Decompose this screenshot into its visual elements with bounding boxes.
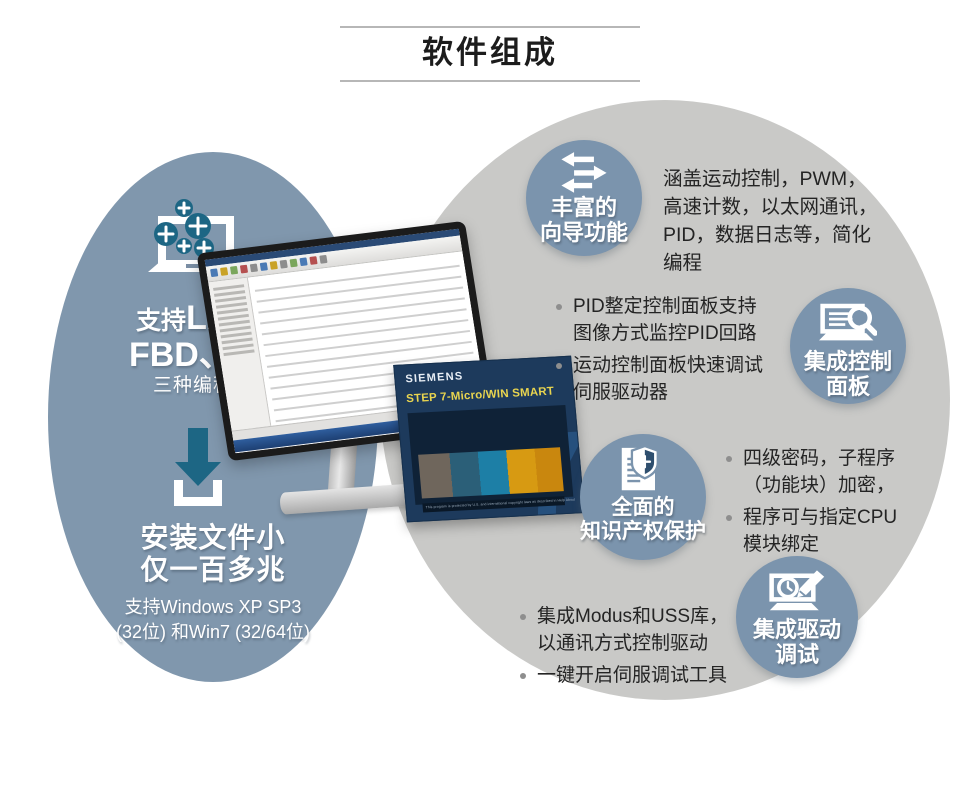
panel-b2-l1: 运动控制面板快速调试 (573, 355, 763, 376)
ip-b1-l1: 四级密码，子程序 (743, 448, 895, 469)
feature-text-ip-protection: 四级密码，子程序 （功能块）加密， 程序可与指定CPU 模块绑定 (726, 446, 897, 564)
list-item: 运动控制面板快速调试 伺服驱动器 (556, 353, 763, 407)
wizard-line-1: 涵盖运动控制，PWM， (663, 166, 878, 194)
page-title: 软件组成 (340, 28, 640, 80)
panel-b1-l1: PID整定控制面板支持 (573, 296, 757, 317)
list-item: 四级密码，子程序 （功能块）加密， (726, 446, 897, 500)
drive-b1-l1: 集成Modus和USS库， (537, 606, 728, 627)
splash-photo-strip (418, 447, 564, 498)
title-rule-bottom (340, 80, 640, 82)
badge-drive-label-2: 调试 (753, 643, 841, 668)
drive-bullets: 集成Modus和USS库， 以通讯方式控制驱动 一键开启伺服调试工具 (520, 604, 728, 690)
control-panel-bullets: PID整定控制面板支持 图像方式监控PID回路 运动控制面板快速调试 伺服驱动器 (556, 294, 763, 407)
list-item: 程序可与指定CPU 模块绑定 (726, 505, 897, 559)
badge-wizard-label-2: 向导功能 (540, 221, 628, 246)
feature-text-drive-commissioning: 集成Modus和USS库， 以通讯方式控制驱动 一键开启伺服调试工具 (520, 604, 728, 695)
monitor-gauge-pen-icon (768, 570, 826, 616)
list-item: 一键开启伺服调试工具 (520, 663, 728, 690)
badge-drive-label-1: 集成驱动 (753, 618, 841, 643)
splash-product-name: STEP 7-Micro/WIN SMART (406, 386, 555, 406)
installer-row2: 仅一百多兆 (48, 554, 378, 586)
badge-integrated-control-panel[interactable]: 集成控制 面板 (790, 288, 906, 404)
panel-b1-l2: 图像方式监控PID回路 (573, 321, 763, 348)
list-item: 集成Modus和USS库， 以通讯方式控制驱动 (520, 604, 728, 658)
badge-ip-label-2: 知识产权保护 (580, 520, 706, 544)
panel-b2-l2: 伺服驱动器 (573, 380, 763, 407)
badge-integrated-drive-commissioning[interactable]: 集成驱动 调试 (736, 556, 858, 678)
feature-text-control-panel: PID整定控制面板支持 图像方式监控PID回路 运动控制面板快速调试 伺服驱动器 (556, 294, 763, 412)
wizard-line-3: PID，数据日志等，简化 (663, 222, 878, 250)
monitor-search-icon (819, 302, 877, 348)
list-item: PID整定控制面板支持 图像方式监控PID回路 (556, 294, 763, 348)
badge-panel-label-1: 集成控制 (804, 350, 892, 375)
infographic-canvas: 软件组成 (0, 0, 970, 809)
drive-b2-l1: 一键开启伺服调试工具 (537, 665, 727, 686)
splash-brand: SIEMENS (405, 370, 464, 385)
badge-ip-protection[interactable]: 全面的 知识产权保护 (580, 434, 706, 560)
installer-sub-line1: 支持Windows XP SP3 (48, 595, 378, 620)
ip-protection-bullets: 四级密码，子程序 （功能块）加密， 程序可与指定CPU 模块绑定 (726, 446, 897, 559)
page-title-block: 软件组成 (340, 26, 640, 82)
exchange-arrows-icon (556, 150, 612, 194)
badge-panel-label-2: 面板 (804, 375, 892, 400)
left-headline-prefix: 支持 (136, 307, 186, 335)
ip-b1-l2: （功能块）加密， (743, 473, 897, 500)
feature-text-wizard: 涵盖运动控制，PWM， 高速计数，以太网通讯， PID，数据日志等，简化 编程 (663, 166, 878, 278)
ip-b2-l2: 模块绑定 (743, 532, 897, 559)
badge-rich-wizards[interactable]: 丰富的 向导功能 (526, 140, 642, 256)
drive-b1-l2: 以通讯方式控制驱动 (537, 631, 728, 658)
monitor-stand-base (279, 483, 416, 514)
badge-wizard-label-1: 丰富的 (540, 196, 628, 221)
installer-sub-line2: (32位) 和Win7 (32/64位) (48, 620, 378, 645)
badge-ip-label-1: 全面的 (580, 496, 706, 520)
wizard-line-2: 高速计数，以太网通讯， (663, 194, 878, 222)
ip-b2-l1: 程序可与指定CPU (743, 507, 897, 528)
wizard-line-4: 编程 (663, 250, 878, 278)
document-shield-icon (616, 446, 670, 494)
